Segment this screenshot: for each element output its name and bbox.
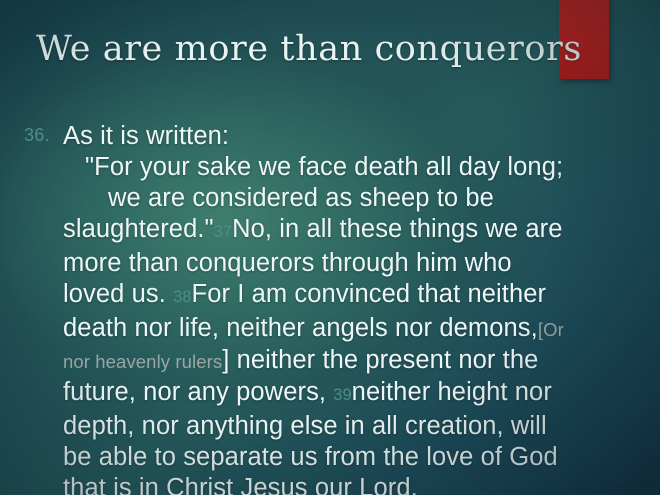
footnote-text: nor heavenly rulers bbox=[63, 351, 222, 372]
body-line-5: No, in all these things we are bbox=[232, 215, 562, 243]
body-line-1: As it is written: bbox=[63, 122, 229, 150]
body-line-10: ] neither the present nor the bbox=[222, 346, 538, 374]
slide-title: We are more than conquerors bbox=[36, 27, 546, 71]
body-line-9: death nor life, neither angels nor demon… bbox=[63, 314, 538, 342]
body-line-12: neither height nor bbox=[352, 378, 552, 406]
presentation-slide: We are more than conquerors 36.As it is … bbox=[0, 0, 660, 495]
verse-marker-38: 38 bbox=[173, 288, 191, 306]
verse-paragraph: 36.As it is written: "For your sake we f… bbox=[18, 121, 646, 495]
body-line-7: loved us. bbox=[63, 280, 166, 308]
body-line-14: be able to separate us from the love of … bbox=[63, 443, 558, 471]
body-line-3: we are considered as sheep to be bbox=[108, 184, 494, 212]
footnote-open: [Or bbox=[538, 319, 564, 340]
body-line-11: future, nor any powers, bbox=[63, 378, 326, 406]
body-line-4: slaughtered." bbox=[63, 215, 214, 243]
slide-body: 36.As it is written: "For your sake we f… bbox=[18, 121, 646, 495]
body-line-13: depth, nor anything else in all creation… bbox=[63, 412, 547, 440]
verse-marker-37: 37 bbox=[214, 223, 232, 241]
body-line-15: that is in Christ Jesus our Lord. bbox=[63, 474, 418, 495]
verse-marker-39: 39 bbox=[333, 386, 351, 404]
body-line-2: "For your sake we face death all day lon… bbox=[85, 153, 563, 181]
body-line-6: more than conquerors through him who bbox=[63, 249, 512, 277]
verse-lead-number: 36. bbox=[24, 124, 50, 146]
body-line-8: For I am convinced that neither bbox=[192, 280, 547, 308]
